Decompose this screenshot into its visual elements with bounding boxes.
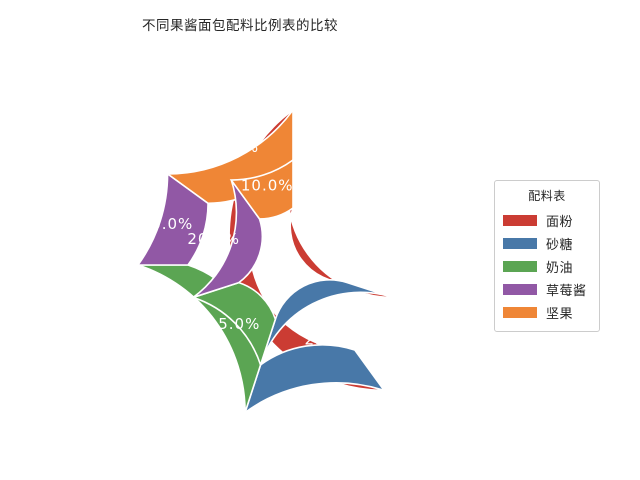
slice-percent-label: 40.0% bbox=[393, 215, 446, 233]
slice-percent-label: 15.0% bbox=[208, 315, 261, 333]
legend-item-label: 奶油 bbox=[546, 257, 573, 276]
legend-item-label: 坚果 bbox=[546, 303, 573, 322]
legend-color-swatch bbox=[503, 284, 537, 295]
legend-item-label: 面粉 bbox=[546, 211, 573, 230]
legend-color-swatch bbox=[503, 238, 537, 249]
slice-percent-label: 20.0% bbox=[159, 334, 212, 352]
figure-canvas: 不同果酱面包配料比例表的比较 40.0%15.0%20.0%10.0%15.0%… bbox=[0, 0, 640, 480]
slice-percent-label: 10.0% bbox=[241, 177, 294, 195]
slice-percent-label: 30.0% bbox=[334, 207, 387, 225]
donut-slice[interactable] bbox=[288, 160, 393, 297]
slice-percent-label: 15.0% bbox=[287, 387, 340, 405]
legend-items: 面粉砂糖奶油草莓酱坚果 bbox=[503, 209, 591, 324]
legend-item[interactable]: 砂糖 bbox=[503, 232, 591, 255]
legend-item[interactable]: 坚果 bbox=[503, 301, 591, 324]
slice-percent-label: 20.0% bbox=[187, 230, 240, 248]
donut-svg: 40.0%15.0%20.0%10.0%15.0% 30.0%25.0%15.0… bbox=[0, 0, 480, 480]
legend-item-label: 草莓酱 bbox=[546, 280, 587, 299]
legend-title: 配料表 bbox=[503, 187, 591, 204]
legend-color-swatch bbox=[503, 261, 537, 272]
legend-item[interactable]: 草莓酱 bbox=[503, 278, 591, 301]
legend: 配料表 面粉砂糖奶油草莓酱坚果 bbox=[494, 180, 600, 332]
legend-item[interactable]: 奶油 bbox=[503, 255, 591, 278]
slice-percent-label: 10.0% bbox=[141, 215, 194, 233]
legend-color-swatch bbox=[503, 307, 537, 318]
legend-color-swatch bbox=[503, 215, 537, 226]
slice-percent-label: 15.0% bbox=[207, 138, 260, 156]
legend-item[interactable]: 面粉 bbox=[503, 209, 591, 232]
nested-donut-chart: 40.0%15.0%20.0%10.0%15.0% 30.0%25.0%15.0… bbox=[0, 0, 480, 480]
legend-item-label: 砂糖 bbox=[546, 234, 573, 253]
outer-ring bbox=[138, 110, 384, 412]
slice-percent-label: 25.0% bbox=[305, 330, 358, 348]
